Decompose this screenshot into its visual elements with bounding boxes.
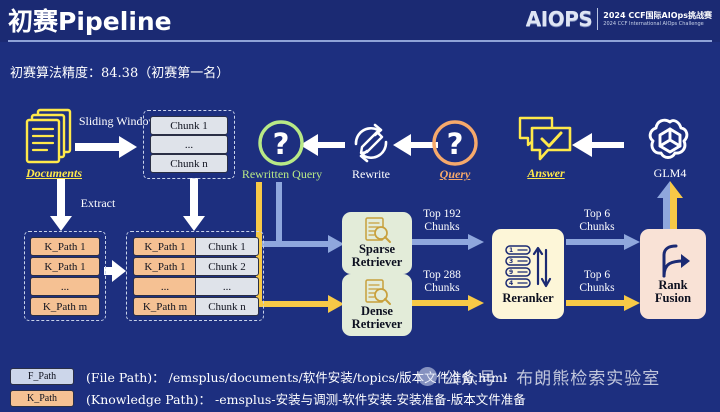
pair-kpath: K_Path 1 xyxy=(133,237,196,256)
chunks-group: Chunk 1 ... Chunk n xyxy=(143,110,235,179)
answer-label: Answer xyxy=(508,166,584,181)
pair-kpath: ... xyxy=(133,277,196,296)
kpath-item: K_Path 1 xyxy=(30,237,100,256)
pair-chunk: Chunk 1 xyxy=(195,237,259,256)
svg-text:9: 9 xyxy=(509,269,513,276)
kpath-item: K_Path m xyxy=(30,297,100,316)
rank-fusion-label-2: Fusion xyxy=(655,292,691,305)
pair-chunk: Chunk 2 xyxy=(195,257,259,276)
dense-retriever-node[interactable]: Dense Retriever xyxy=(342,274,412,336)
top288-line2: Chunks xyxy=(412,282,472,295)
f-path-text: (File Path)： /emsplus/documents/软件安装/top… xyxy=(86,367,507,386)
top192-label: Top 192 Chunks xyxy=(412,208,472,234)
chunk-item: Chunk 1 xyxy=(150,116,228,135)
rank-fusion-node[interactable]: Rank Fusion xyxy=(640,229,706,319)
sparse-retriever-label-2: Retriever xyxy=(352,256,403,269)
pair-chunk: ... xyxy=(195,277,259,296)
top288-label: Top 288 Chunks xyxy=(412,269,472,295)
top192-line2: Chunks xyxy=(412,221,472,234)
top6-upper-line1: Top 6 xyxy=(568,208,626,221)
reranker-node[interactable]: 1394 Reranker xyxy=(492,229,564,319)
svg-text:?: ? xyxy=(447,127,464,161)
rewrite-label: Rewrite xyxy=(336,167,406,182)
query-label: Query xyxy=(420,167,490,182)
retriever-doc-search-icon xyxy=(362,279,392,305)
k-path-text: (Knowledge Path)： -emsplus-安装与调测-软件安装-安装… xyxy=(86,389,526,408)
glm4-icon xyxy=(644,114,696,166)
legend-row-file-path: F_Path (File Path)： /emsplus/documents/软… xyxy=(10,366,710,386)
documents-icon xyxy=(26,108,80,166)
top192-line1: Top 192 xyxy=(412,208,472,221)
chunk-item: ... xyxy=(150,135,228,154)
chunk-item: Chunk n xyxy=(150,154,228,173)
pair-kpath: K_Path 1 xyxy=(133,257,196,276)
top6-upper-label: Top 6 Chunks xyxy=(568,208,626,234)
retriever-doc-search-icon xyxy=(362,217,392,243)
svg-text:1: 1 xyxy=(509,247,513,254)
top288-line1: Top 288 xyxy=(412,269,472,282)
pair-kpath: K_Path m xyxy=(133,297,196,316)
legend-row-knowledge-path: K_Path (Knowledge Path)： -emsplus-安装与调测-… xyxy=(10,388,710,408)
slide-canvas: 初赛Pipeline AIOPS 2024 CCF国际AIOps挑战赛 2024… xyxy=(0,0,720,412)
query-icon: ? xyxy=(430,118,480,168)
answer-icon xyxy=(514,114,576,166)
merge-arrow-icon xyxy=(652,243,694,279)
kpath-group: K_Path 1 K_Path 1 ... K_Path m xyxy=(24,231,106,321)
rewritten-query-icon: ? xyxy=(256,118,306,168)
top6-upper-line2: Chunks xyxy=(568,221,626,234)
legend: F_Path (File Path)： /emsplus/documents/软… xyxy=(10,366,710,410)
extract-label: Extract xyxy=(63,196,133,211)
kpath-chunk-pair-group: K_Path 1 Chunk 1 K_Path 1 Chunk 2 ... ..… xyxy=(126,231,264,321)
k-path-badge: K_Path xyxy=(10,390,74,407)
rewritten-query-label: Rewritten Query xyxy=(227,167,337,182)
dense-retriever-label-2: Retriever xyxy=(352,318,403,331)
svg-text:3: 3 xyxy=(509,258,513,265)
top6-lower-line1: Top 6 xyxy=(568,269,626,282)
documents-label: Documents xyxy=(10,166,98,181)
reranker-list-icon: 1394 xyxy=(504,244,552,290)
rewrite-icon xyxy=(348,120,394,166)
sparse-retriever-node[interactable]: Sparse Retriever xyxy=(342,212,412,274)
top6-lower-label: Top 6 Chunks xyxy=(568,269,626,295)
pair-chunk: Chunk n xyxy=(195,297,259,316)
svg-text:?: ? xyxy=(273,127,290,161)
reranker-label: Reranker xyxy=(502,292,553,305)
top6-lower-line2: Chunks xyxy=(568,282,626,295)
kpath-item: K_Path 1 xyxy=(30,257,100,276)
kpath-item: ... xyxy=(30,277,100,296)
glm4-label: GLM4 xyxy=(638,166,702,181)
svg-text:4: 4 xyxy=(509,280,513,287)
f-path-badge: F_Path xyxy=(10,368,74,385)
